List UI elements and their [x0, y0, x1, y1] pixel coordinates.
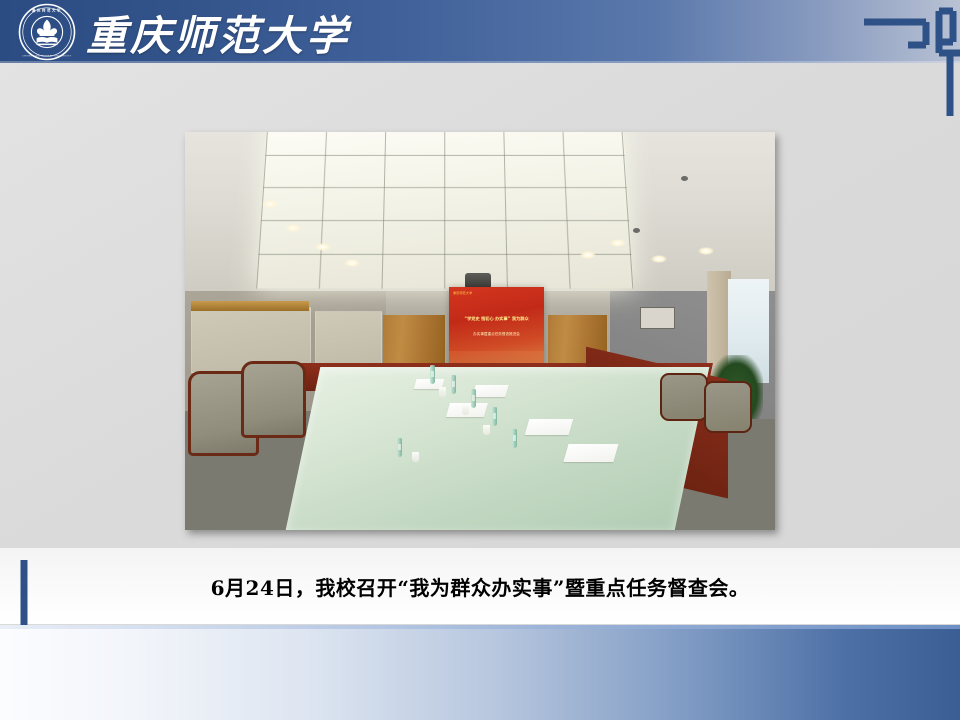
document	[525, 419, 574, 435]
meander-ornament-top-right-icon	[864, 0, 960, 116]
downlight	[285, 224, 301, 232]
university-wordmark: 重庆师范大学	[86, 2, 350, 62]
downlight	[262, 200, 278, 208]
water-bottle	[471, 389, 476, 408]
ceiling-light-panel	[256, 132, 634, 289]
led-banner: 重庆师范大学 “学党史 悟初心 办实事” 我为群众 办实事暨重点任务督查推进会	[449, 287, 543, 373]
paper-cup	[483, 425, 490, 435]
water-bottle	[512, 429, 517, 448]
water-bottle	[451, 375, 456, 394]
meeting-photo-image: 重庆师范大学 “学党史 悟初心 办实事” 我为群众 办实事暨重点任务督查推进会	[185, 132, 775, 530]
slide: 重庆师范大学 CHONGQING NORMAL UNIVERSITY 重庆师范大…	[0, 0, 960, 720]
water-bottle	[397, 438, 402, 457]
meeting-photo: 重庆师范大学 “学党史 悟初心 办实事” 我为群众 办实事暨重点任务督查推进会	[185, 132, 775, 530]
wood-trim	[191, 301, 309, 311]
svg-text:CHONGQING NORMAL UNIVERSITY: CHONGQING NORMAL UNIVERSITY	[22, 54, 72, 57]
university-seal-icon: 重庆师范大学 CHONGQING NORMAL UNIVERSITY	[18, 3, 76, 61]
chair	[241, 361, 306, 439]
led-banner-top-label: 重庆师范大学	[453, 291, 472, 295]
footer-band	[0, 629, 960, 720]
led-banner-line2: 办实事暨重点任务督查推进会	[452, 332, 541, 337]
water-bottle	[492, 407, 497, 426]
photo-caption: 6月24日，我校召开“我为群众办实事”暨重点任务督查会。	[0, 572, 960, 601]
framed-picture	[640, 307, 674, 329]
paper-cup	[462, 405, 469, 415]
chair	[660, 373, 708, 421]
water-bottle	[430, 365, 435, 384]
document	[472, 385, 508, 397]
document	[563, 444, 618, 462]
ceiling-vent	[681, 176, 688, 181]
ceiling-vent	[633, 228, 640, 233]
ceiling-grid	[256, 132, 634, 289]
paper-cup	[439, 387, 446, 397]
paper-cup	[412, 452, 419, 462]
chair	[704, 381, 752, 433]
led-banner-line1: “学党史 悟初心 办实事” 我为群众	[452, 316, 541, 322]
svg-text:重庆师范大学: 重庆师范大学	[32, 7, 62, 12]
